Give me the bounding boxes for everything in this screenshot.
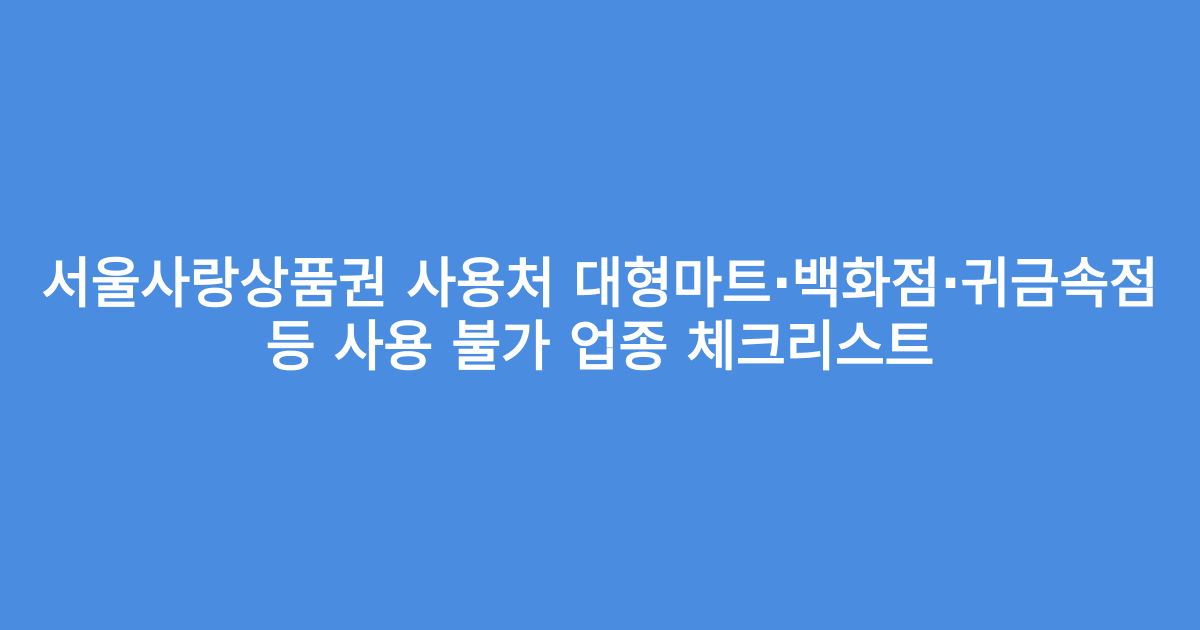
headline-block: 서울사랑상품권 사용처 대형마트·백화점·귀금속점 등 사용 불가 업종 체크리…	[50, 252, 1150, 378]
headline-line-2: 등 사용 불가 업종 체크리스트	[266, 315, 934, 378]
headline-line-1: 서울사랑상품권 사용처 대형마트·백화점·귀금속점	[42, 252, 1159, 315]
social-share-card: 서울사랑상품권 사용처 대형마트·백화점·귀금속점 등 사용 불가 업종 체크리…	[0, 0, 1200, 630]
